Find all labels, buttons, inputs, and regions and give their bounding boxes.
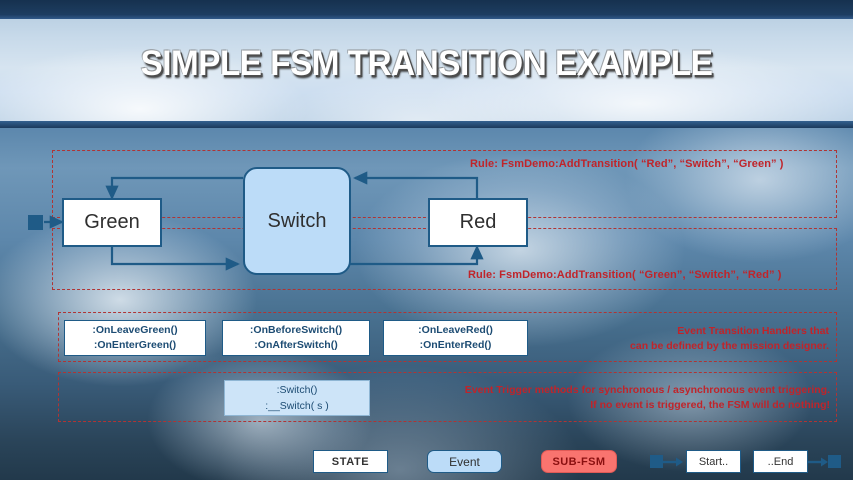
- handler-green-line-1: :OnLeaveGreen(): [92, 323, 177, 338]
- trigger-box-switch[interactable]: :Switch() :__Switch( s ): [224, 380, 370, 416]
- start-node-square: [28, 215, 43, 230]
- triggers-note-line-2: If no event is triggered, the FSM will d…: [590, 399, 830, 411]
- slide-canvas: SIMPLE FSM TRANSITION EXAMPLE Rule: FsmD…: [0, 0, 853, 480]
- handlers-note-line-1: Event Transition Handlers that: [677, 325, 829, 337]
- legend-state-label: STATE: [332, 456, 369, 468]
- legend-state[interactable]: STATE: [313, 450, 388, 473]
- legend-subfsm-label: SUB-FSM: [553, 456, 606, 468]
- handler-box-green[interactable]: :OnLeaveGreen() :OnEnterGreen(): [64, 320, 206, 356]
- state-box-green[interactable]: Green: [62, 198, 162, 247]
- state-label-green: Green: [84, 211, 140, 234]
- legend-bar: STATE Event SUB-FSM Start.. ..End: [0, 446, 853, 480]
- legend-subfsm[interactable]: SUB-FSM: [541, 450, 617, 473]
- handlers-note: Event Transition Handlers that can be de…: [537, 324, 829, 354]
- handler-box-red[interactable]: :OnLeaveRed() :OnEnterRed(): [383, 320, 528, 356]
- arrow-switch-to-red: [350, 247, 477, 264]
- triggers-note: Event Trigger methods for synchronous / …: [440, 383, 830, 413]
- legend-event-label: Event: [449, 455, 480, 469]
- legend-end-square-icon: [828, 455, 841, 468]
- handlers-note-line-2: can be defined by the mission designer.: [630, 340, 829, 352]
- handler-red-line-2: :OnEnterRed(): [420, 338, 492, 353]
- legend-start-arrow-icon: [663, 454, 685, 470]
- legend-start-label: Start..: [699, 456, 728, 468]
- arrow-red-to-switch: [355, 178, 477, 198]
- legend-end-arrow-icon: [808, 454, 830, 470]
- legend-start-square-icon: [650, 455, 663, 468]
- handler-red-line-1: :OnLeaveRed(): [418, 323, 493, 338]
- triggers-note-line-1: Event Trigger methods for synchronous / …: [465, 384, 830, 396]
- legend-event[interactable]: Event: [427, 450, 502, 473]
- handler-green-line-2: :OnEnterGreen(): [94, 338, 176, 353]
- handler-switch-line-1: :OnBeforeSwitch(): [250, 323, 342, 338]
- handler-switch-line-2: :OnAfterSwitch(): [254, 338, 337, 353]
- trigger-line-1: :Switch(): [277, 382, 318, 398]
- state-label-red: Red: [460, 211, 497, 234]
- legend-end-label: ..End: [768, 456, 794, 468]
- event-label-switch: Switch: [268, 210, 327, 233]
- handler-box-switch[interactable]: :OnBeforeSwitch() :OnAfterSwitch(): [222, 320, 370, 356]
- state-box-red[interactable]: Red: [428, 198, 528, 247]
- event-box-switch[interactable]: Switch: [243, 167, 351, 275]
- legend-start[interactable]: Start..: [686, 450, 741, 473]
- arrow-switch-to-green: [112, 178, 243, 198]
- arrow-green-to-switch: [112, 247, 238, 264]
- trigger-line-2: :__Switch( s ): [265, 398, 329, 414]
- legend-end[interactable]: ..End: [753, 450, 808, 473]
